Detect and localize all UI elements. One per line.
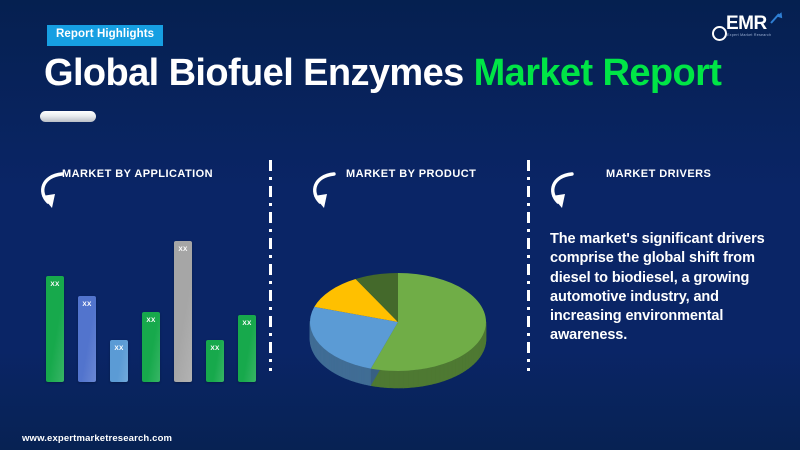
logo-tagline: Expert Market Research bbox=[727, 33, 771, 37]
curved-arrow-icon bbox=[304, 168, 346, 214]
market-drivers-text: The market's significant drivers compris… bbox=[550, 230, 782, 346]
curved-arrow-icon bbox=[542, 168, 584, 214]
pie-slice-side bbox=[452, 359, 456, 378]
bar-value-label: XX bbox=[110, 345, 128, 352]
pie-slice-side bbox=[394, 371, 399, 388]
bar-value-label: XX bbox=[174, 246, 192, 253]
pie-slice-side bbox=[440, 364, 444, 382]
logo-ring-icon bbox=[712, 26, 727, 41]
bar-chart-bar: XX bbox=[238, 315, 256, 382]
pie-slice-side bbox=[471, 347, 474, 366]
pie-slice-side bbox=[399, 371, 404, 388]
pie-slice-side bbox=[389, 371, 394, 388]
divider-right bbox=[527, 160, 530, 410]
pie-slice-side bbox=[444, 362, 448, 380]
pie-slice-side bbox=[455, 357, 459, 376]
pie-slice-side bbox=[369, 368, 371, 385]
section-title-product: MARKET BY PRODUCT bbox=[346, 168, 476, 180]
panel-market-by-application: MARKET BY APPLICATION XXXXXXXXXXXXXX bbox=[24, 160, 264, 410]
panel-market-drivers: MARKET DRIVERS The market's significant … bbox=[536, 160, 794, 410]
bar-chart-bar: XX bbox=[110, 340, 128, 382]
pie-slice-side bbox=[367, 368, 369, 385]
panel-market-by-product: MARKET BY PRODUCT bbox=[284, 160, 522, 410]
pie-slice-side bbox=[408, 370, 413, 387]
pie-slice-side bbox=[465, 351, 468, 370]
pie-chart bbox=[298, 260, 508, 400]
bar-value-label: XX bbox=[238, 320, 256, 327]
pie-slice-side bbox=[459, 355, 462, 374]
section-title-application: MARKET BY APPLICATION bbox=[62, 168, 213, 180]
bar-chart-bar: XX bbox=[78, 296, 96, 382]
bar-value-label: XX bbox=[46, 281, 64, 288]
curved-arrow-icon bbox=[32, 168, 74, 214]
bar-chart-bar: XX bbox=[142, 312, 160, 382]
bar-value-label: XX bbox=[142, 317, 160, 324]
pie-slice-side bbox=[468, 349, 471, 368]
page-title-primary: Global Biofuel Enzymes bbox=[44, 52, 474, 94]
divider-left bbox=[269, 160, 272, 410]
pie-slice-side bbox=[418, 369, 423, 387]
pie-slice-side bbox=[476, 342, 478, 361]
pie-slice-side bbox=[404, 371, 409, 388]
bar-chart-bar: XX bbox=[174, 241, 192, 382]
logo-wordmark: EMR bbox=[726, 14, 767, 33]
infographic-canvas: Report Highlights Global Biofuel Enzymes… bbox=[0, 0, 800, 450]
pie-slice-side bbox=[474, 345, 476, 364]
pie-slice-side bbox=[448, 361, 452, 380]
pie-slice-side bbox=[365, 367, 367, 384]
section-title-drivers: MARKET DRIVERS bbox=[606, 168, 711, 180]
pie-slice-side bbox=[385, 370, 390, 387]
page-title-accent: Market Report bbox=[474, 52, 722, 94]
bar-chart: XXXXXXXXXXXXXX bbox=[46, 222, 256, 382]
page-title: Global Biofuel Enzymes Market Report bbox=[44, 54, 721, 92]
footer-url: www.expertmarketresearch.com bbox=[22, 433, 172, 444]
bar-chart-bar: XX bbox=[206, 340, 224, 382]
emr-logo: EMR Expert Market Research bbox=[708, 10, 786, 44]
report-highlights-badge: Report Highlights bbox=[47, 25, 163, 46]
pie-slice-side bbox=[427, 367, 431, 385]
bar-value-label: XX bbox=[78, 301, 96, 308]
bar-chart-bar: XX bbox=[46, 276, 64, 382]
pie-slice-side bbox=[436, 365, 440, 383]
pie-slice-side bbox=[422, 368, 427, 386]
pie-slice-side bbox=[462, 353, 465, 372]
pie-slice-side bbox=[413, 370, 418, 388]
pie-slice-side bbox=[431, 366, 435, 384]
logo-growth-arrow-icon bbox=[769, 10, 785, 26]
pie-slice-side bbox=[380, 370, 385, 387]
title-underline-pill bbox=[40, 111, 96, 122]
bar-value-label: XX bbox=[206, 345, 224, 352]
